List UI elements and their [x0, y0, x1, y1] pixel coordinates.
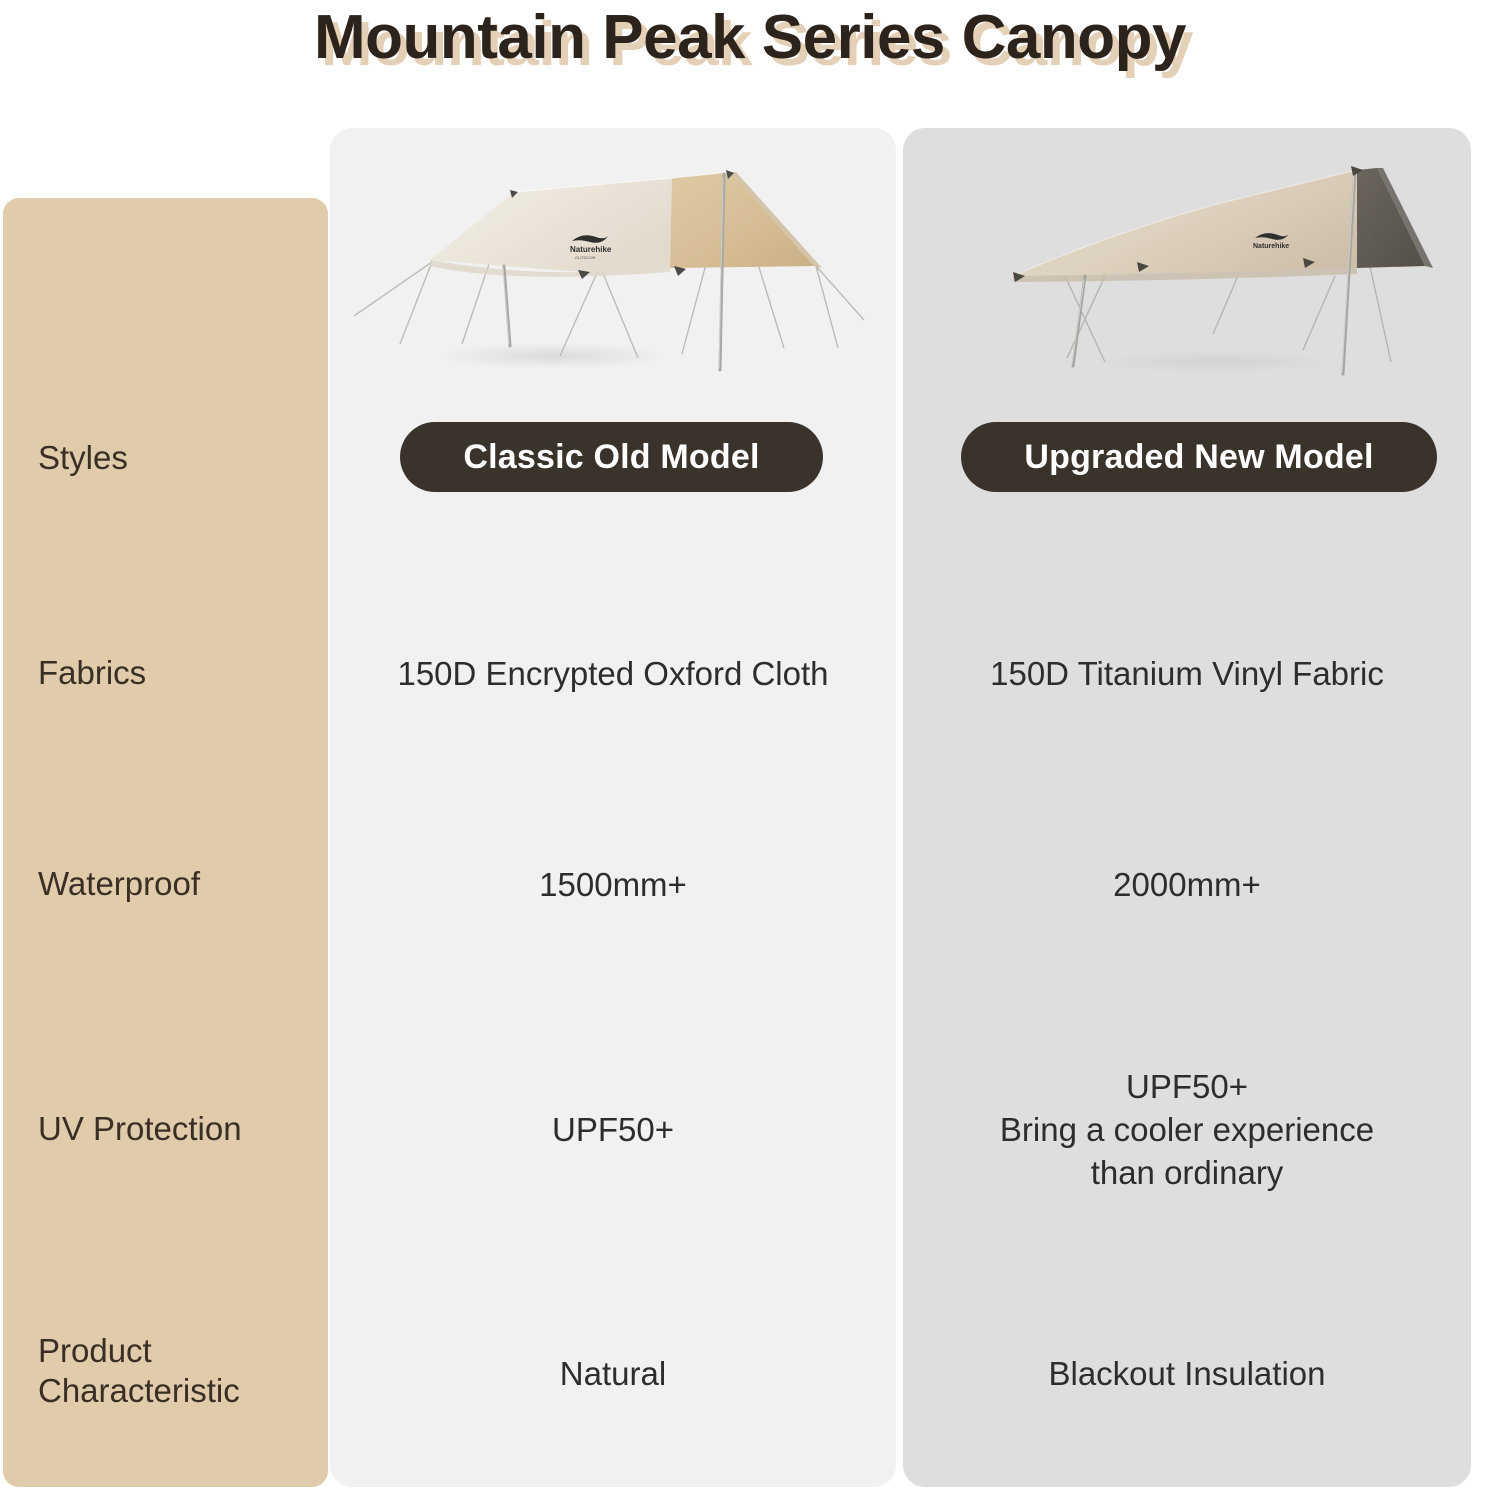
row-label-styles: Styles: [38, 438, 318, 478]
infographic-root: Mountain Peak Series Canopy: [0, 0, 1500, 1497]
svg-text:Naturehike: Naturehike: [570, 245, 612, 254]
product-image-classic-old-model: Naturehike OUTDOOR: [352, 148, 882, 388]
cell-fabrics-new: 150D Titanium Vinyl Fabric: [903, 653, 1471, 696]
cell-product-characteristic-new: Blackout Insulation: [903, 1353, 1471, 1396]
badge-classic-old-model[interactable]: Classic Old Model: [400, 422, 823, 492]
page-title: Mountain Peak Series Canopy: [0, 2, 1500, 73]
row-label-fabrics: Fabrics: [38, 653, 318, 693]
cell-uv-protection-old: UPF50+: [330, 1109, 896, 1152]
badge-upgraded-new-model[interactable]: Upgraded New Model: [961, 422, 1437, 492]
cell-uv-protection-new: UPF50+ Bring a cooler experience than or…: [903, 1066, 1471, 1195]
cell-waterproof-old: 1500mm+: [330, 864, 896, 907]
row-label-uv-protection: UV Protection: [38, 1109, 318, 1149]
svg-text:OUTDOOR: OUTDOOR: [575, 255, 596, 260]
row-label-panel: [3, 198, 328, 1487]
row-label-product-characteristic: Product Characteristic: [38, 1331, 318, 1412]
product-image-upgraded-new-model: Naturehike: [985, 148, 1450, 388]
cell-fabrics-old: 150D Encrypted Oxford Cloth: [330, 653, 896, 696]
row-label-waterproof: Waterproof: [38, 864, 318, 904]
svg-text:Naturehike: Naturehike: [1253, 243, 1289, 250]
cell-product-characteristic-old: Natural: [330, 1353, 896, 1396]
cell-waterproof-new: 2000mm+: [903, 864, 1471, 907]
